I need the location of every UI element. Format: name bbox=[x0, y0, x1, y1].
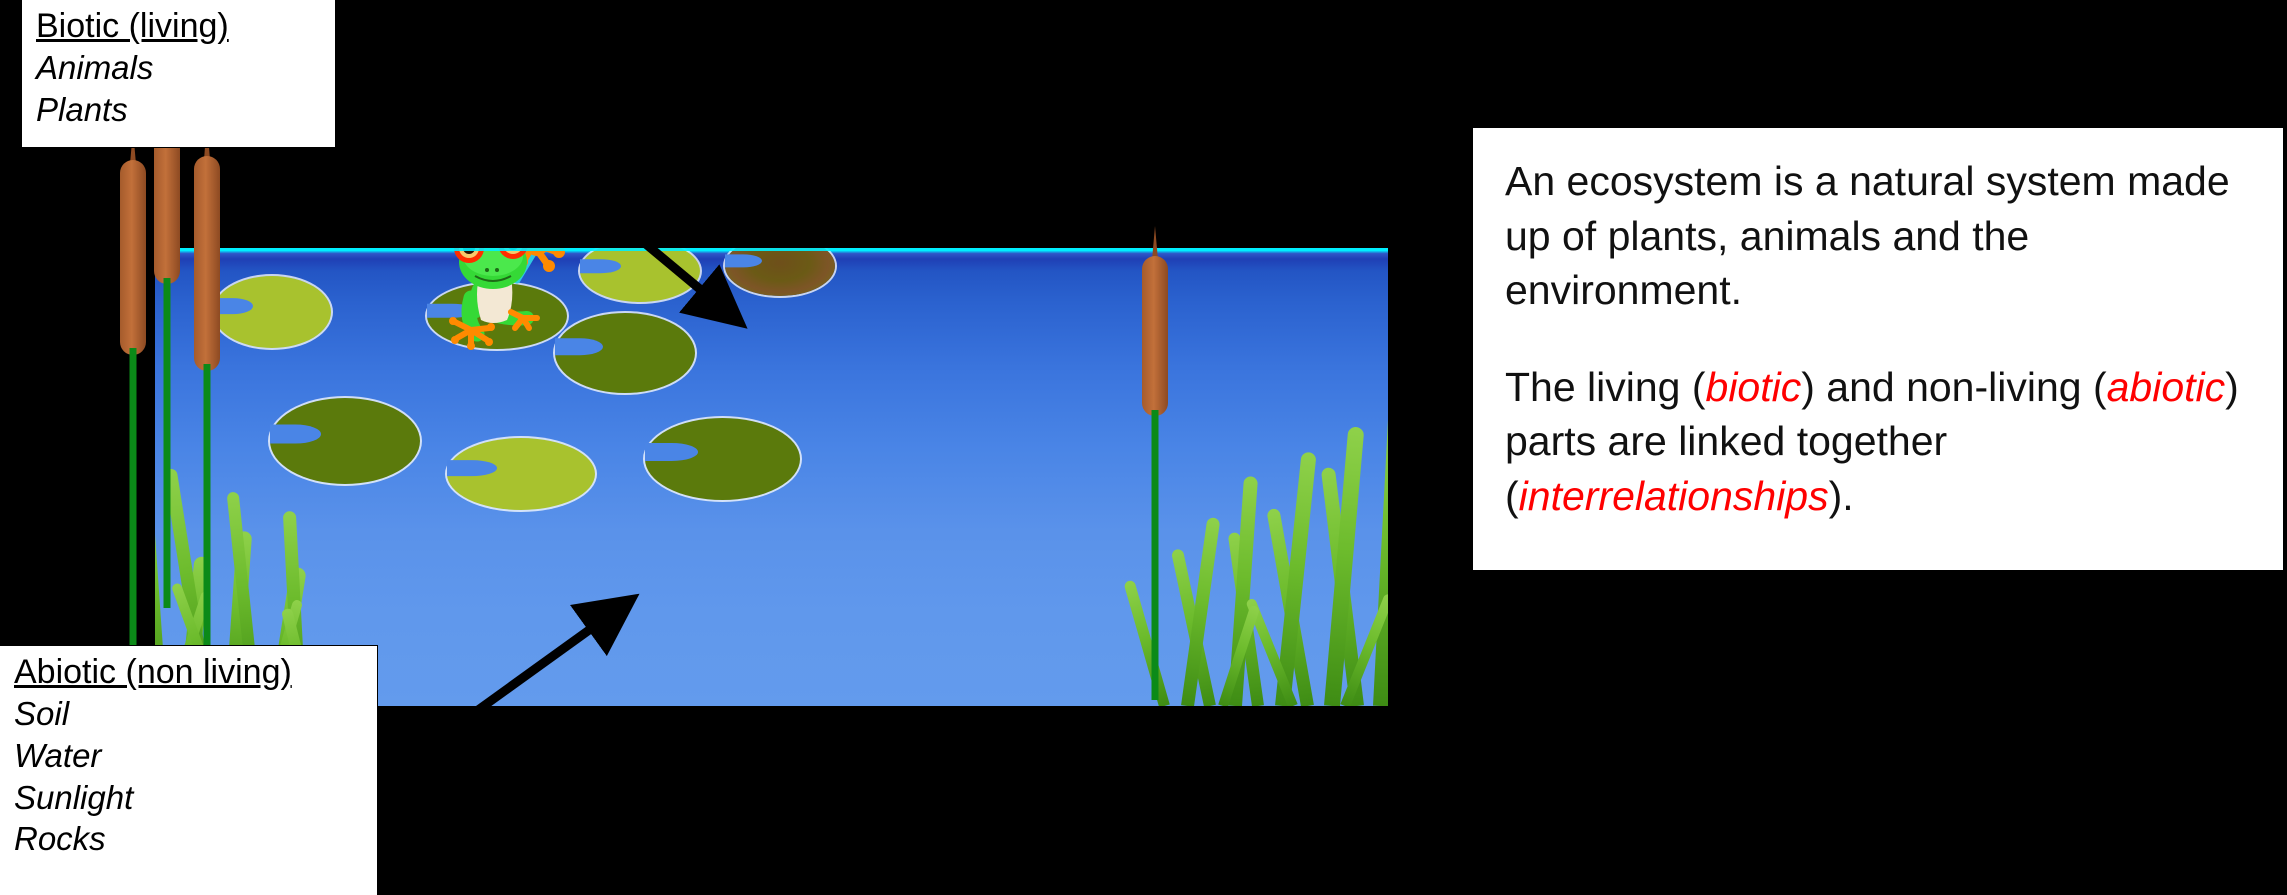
abiotic-item: Rocks bbox=[14, 818, 363, 860]
biotic-heading: Biotic (living) bbox=[36, 6, 321, 47]
biotic-legend-box: Biotic (living) Animals Plants bbox=[22, 0, 336, 148]
grass-cluster-right bbox=[1134, 376, 1388, 706]
abiotic-item: Sunlight bbox=[14, 777, 363, 819]
frog-icon bbox=[431, 248, 581, 348]
definition-text-part: ) and non-living ( bbox=[1801, 364, 2106, 410]
ecosystem-definition-panel: An ecosystem is a natural system made up… bbox=[1473, 128, 2283, 570]
arrow-to-frog bbox=[573, 180, 773, 370]
biotic-item: Animals bbox=[36, 47, 321, 89]
abiotic-item: Soil bbox=[14, 693, 363, 735]
abiotic-legend-box: Abiotic (non living) Soil Water Sunlight… bbox=[0, 645, 378, 895]
definition-text-part: The living ( bbox=[1505, 364, 1706, 410]
keyword-interrelationships: interrelationships bbox=[1519, 473, 1829, 519]
pond-ecosystem-illustration bbox=[155, 248, 1388, 706]
abiotic-heading: Abiotic (non living) bbox=[14, 652, 363, 693]
definition-text-part: ). bbox=[1829, 473, 1854, 519]
keyword-abiotic: abiotic bbox=[2107, 364, 2226, 410]
keyword-biotic: biotic bbox=[1706, 364, 1802, 410]
lily-pad bbox=[447, 438, 595, 510]
biotic-item: Plants bbox=[36, 89, 321, 131]
lily-pad bbox=[645, 418, 800, 500]
abiotic-item: Water bbox=[14, 735, 363, 777]
arrow-to-water bbox=[445, 598, 645, 728]
lily-pad bbox=[213, 276, 331, 348]
definition-paragraph-2: The living (biotic) and non-living (abio… bbox=[1505, 360, 2257, 524]
definition-paragraph-1: An ecosystem is a natural system made up… bbox=[1505, 154, 2257, 318]
paragraph-spacer bbox=[1505, 318, 2257, 360]
